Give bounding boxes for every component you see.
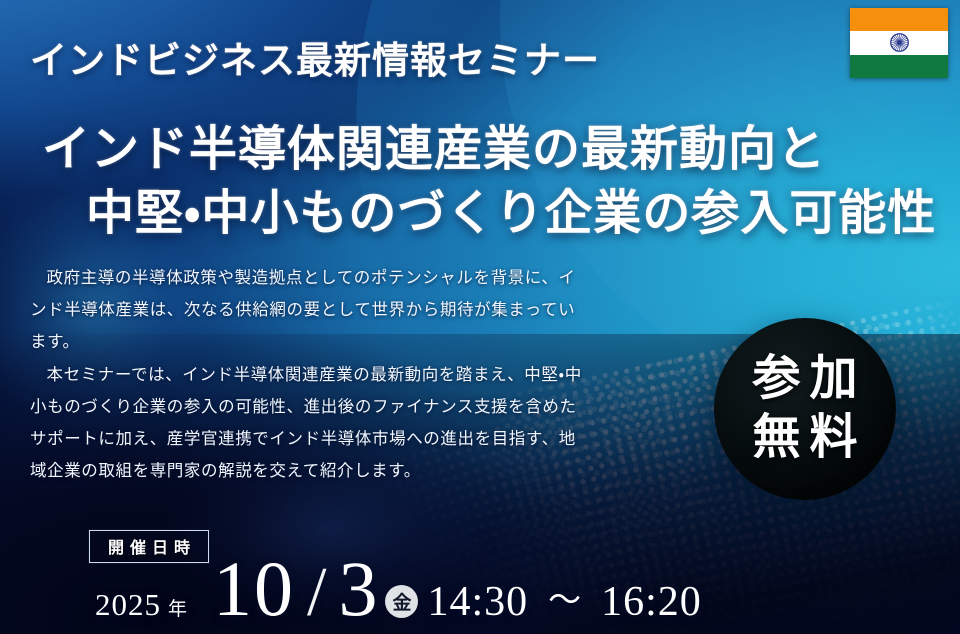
description-paragraph-2: 本セミナーでは、インド半導体関連産業の最新動向を踏まえ、中堅・中小ものづくり企業… [30, 359, 586, 488]
poster-description: 政府主導の半導体政策や製造拠点としてのポテンシャルを背景に、インド半導体産業は、… [30, 262, 586, 487]
schedule-end-time: 16:20 [601, 578, 702, 626]
schedule-month: 10 [213, 550, 295, 628]
schedule-separator: / [307, 558, 326, 628]
ashoka-chakra-icon [890, 33, 909, 52]
schedule-day: 3 [338, 550, 379, 628]
india-flag-icon [850, 8, 948, 78]
poster-title: インド半導体関連産業の最新動向と 中堅・中小ものづくり企業の参入可能性 [0, 118, 960, 246]
poster-title-line-2: 中堅・中小ものづくり企業の参入可能性 [0, 182, 960, 246]
flag-white-band [850, 31, 948, 54]
flag-saffron-band [850, 8, 948, 31]
schedule-time-tilde: 〜 [548, 573, 581, 621]
seminar-series-kicker: インドビジネス最新情報セミナー [30, 30, 600, 84]
flag-green-band [850, 55, 948, 78]
badge-line-2: 無料 [743, 409, 866, 468]
schedule-row: 2025 年 10 / 3 金 14:30 〜 16:20 [95, 550, 960, 628]
schedule-year-unit: 年 [168, 594, 187, 621]
schedule-weekday-badge: 金 [385, 585, 418, 618]
description-paragraph-1: 政府主導の半導体政策や製造拠点としてのポテンシャルを背景に、インド半導体産業は、… [30, 262, 586, 359]
schedule-start-time: 14:30 [427, 578, 528, 626]
seminar-poster: インドビジネス最新情報セミナー インド半導体関連産業の最新動向と 中堅・中小もの… [0, 0, 960, 634]
schedule-year: 2025 [95, 587, 161, 623]
poster-title-line-1: インド半導体関連産業の最新動向と [0, 118, 960, 182]
free-admission-badge: 参加 無料 [714, 318, 896, 500]
badge-line-1: 参加 [743, 350, 866, 409]
